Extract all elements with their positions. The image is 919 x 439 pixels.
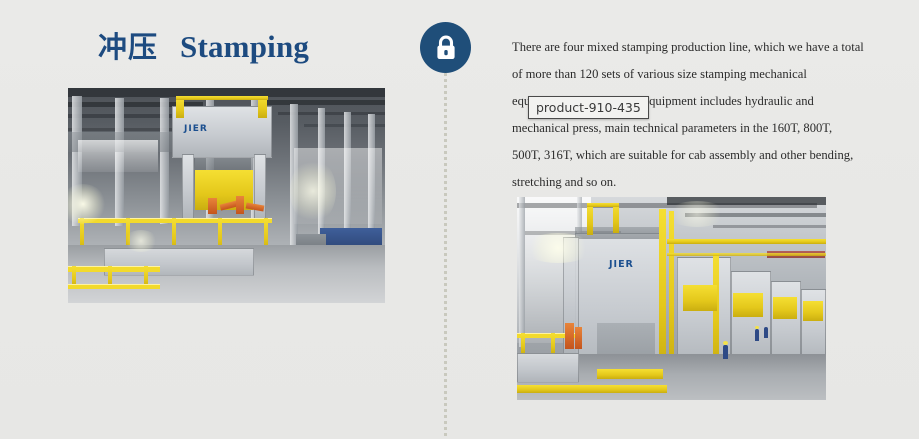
photo-right-brand: JIER	[609, 259, 634, 270]
photo-left-brand: JIER	[184, 124, 208, 134]
page-title-chinese: 冲压	[98, 24, 158, 66]
page-title: 冲压 Stamping	[98, 24, 309, 66]
stamping-line-photo-right[interactable]: JIER	[517, 197, 826, 400]
page-title-english: Stamping	[180, 29, 309, 65]
stamping-line-photo-left[interactable]: JIER	[68, 88, 385, 303]
product-tooltip: product-910-435	[528, 96, 649, 119]
photo-left-scene: JIER	[68, 88, 385, 303]
lock-icon	[433, 34, 459, 62]
photo-right-scene: JIER	[517, 197, 826, 400]
lock-badge[interactable]	[420, 22, 471, 73]
vertical-dotted-divider	[444, 73, 447, 439]
